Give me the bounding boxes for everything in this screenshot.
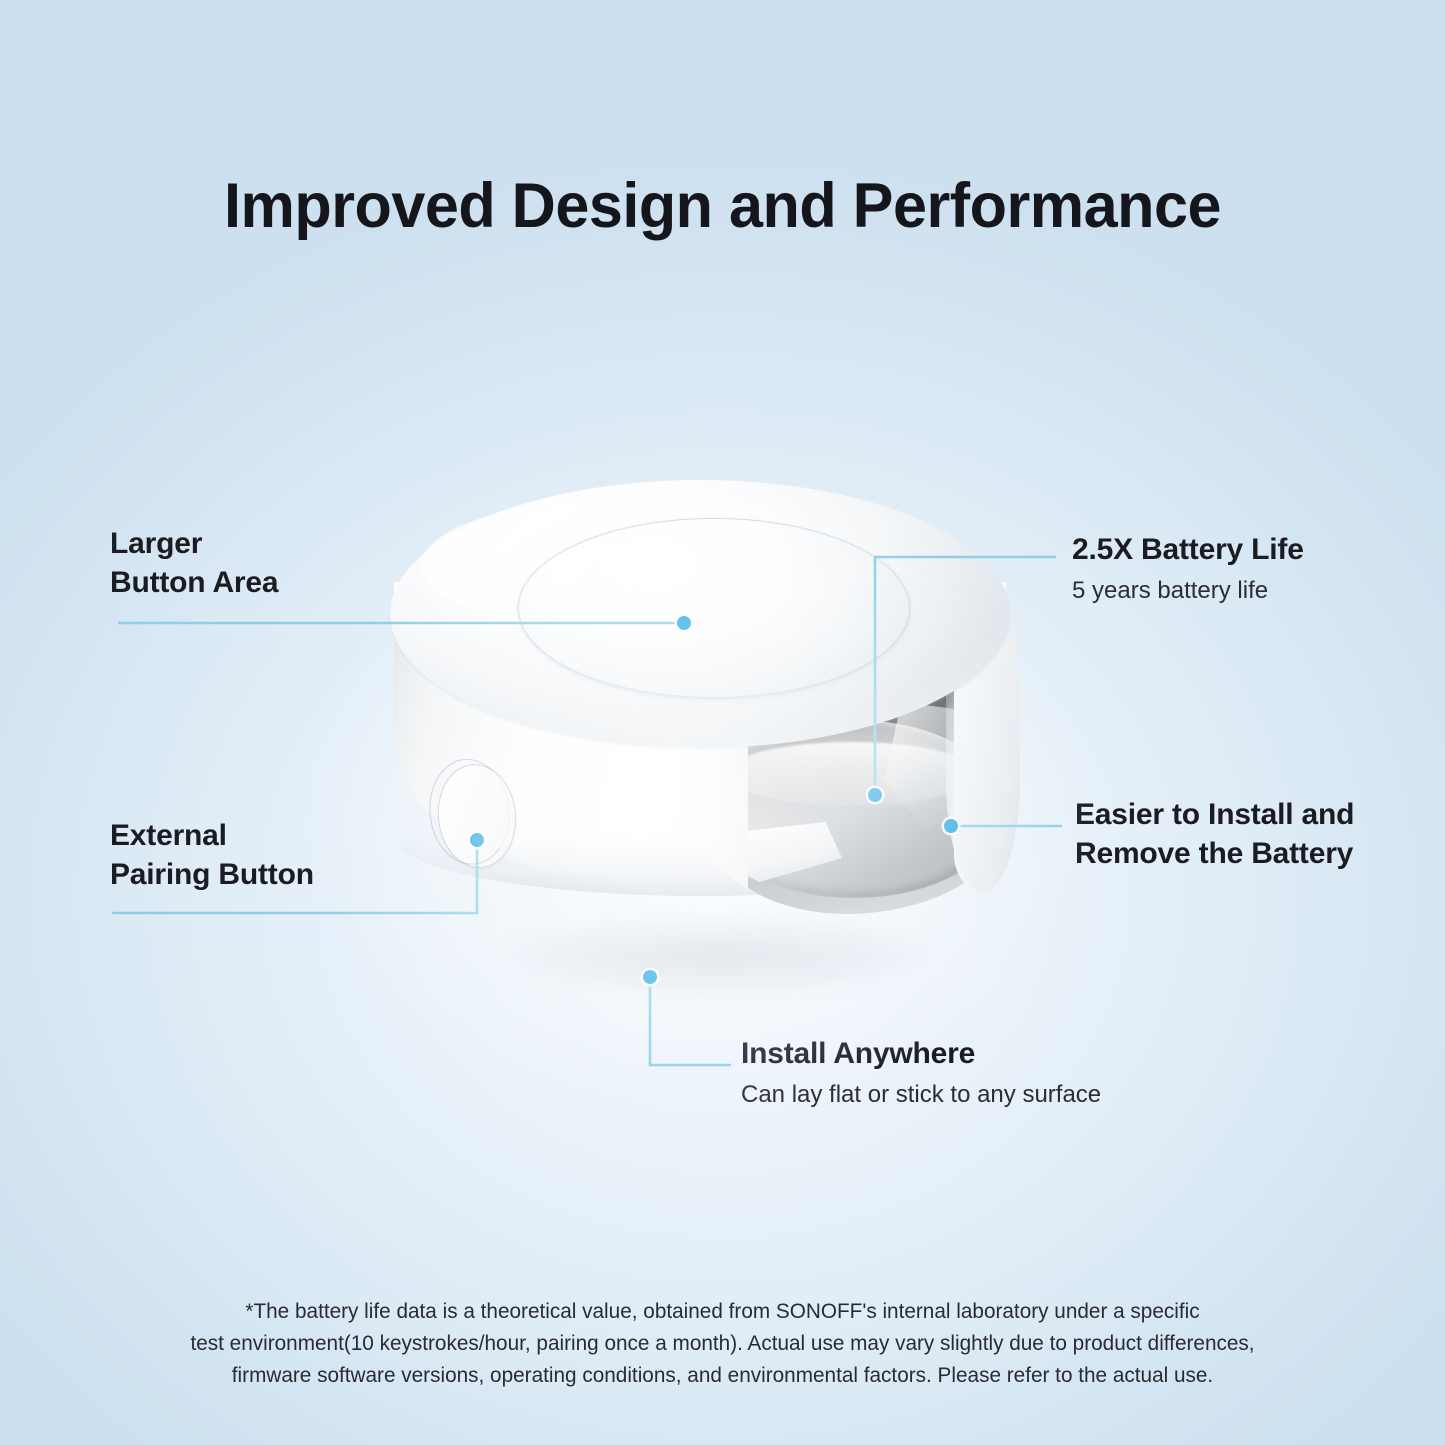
callout-install-anywhere: Install Anywhere Can lay flat or stick t… <box>741 1034 1101 1111</box>
callout-easier-install: Easier to Install and Remove the Battery <box>1075 795 1354 873</box>
top-button-highlight <box>549 536 792 615</box>
callout-battery-life: 2.5X Battery Life 5 years battery life <box>1072 530 1304 607</box>
product-illustration <box>386 474 1046 1004</box>
callout-external-pairing-title: External Pairing Button <box>110 816 314 894</box>
callout-install-anywhere-title: Install Anywhere <box>741 1034 1101 1073</box>
callout-easier-install-title: Easier to Install and Remove the Battery <box>1075 795 1354 873</box>
large-top-button[interactable] <box>518 518 910 698</box>
infographic-canvas: Improved Design and Performance <box>0 0 1445 1445</box>
callout-external-pairing: External Pairing Button <box>110 816 314 894</box>
callout-larger-button: Larger Button Area <box>110 524 278 602</box>
callout-battery-life-title: 2.5X Battery Life <box>1072 530 1304 569</box>
page-title: Improved Design and Performance <box>22 170 1424 242</box>
callout-install-anywhere-subtitle: Can lay flat or stick to any surface <box>741 1079 1101 1111</box>
footnote-disclaimer: *The battery life data is a theoretical … <box>25 1296 1419 1391</box>
callout-battery-life-subtitle: 5 years battery life <box>1072 575 1304 607</box>
callout-larger-button-title: Larger Button Area <box>110 524 278 602</box>
